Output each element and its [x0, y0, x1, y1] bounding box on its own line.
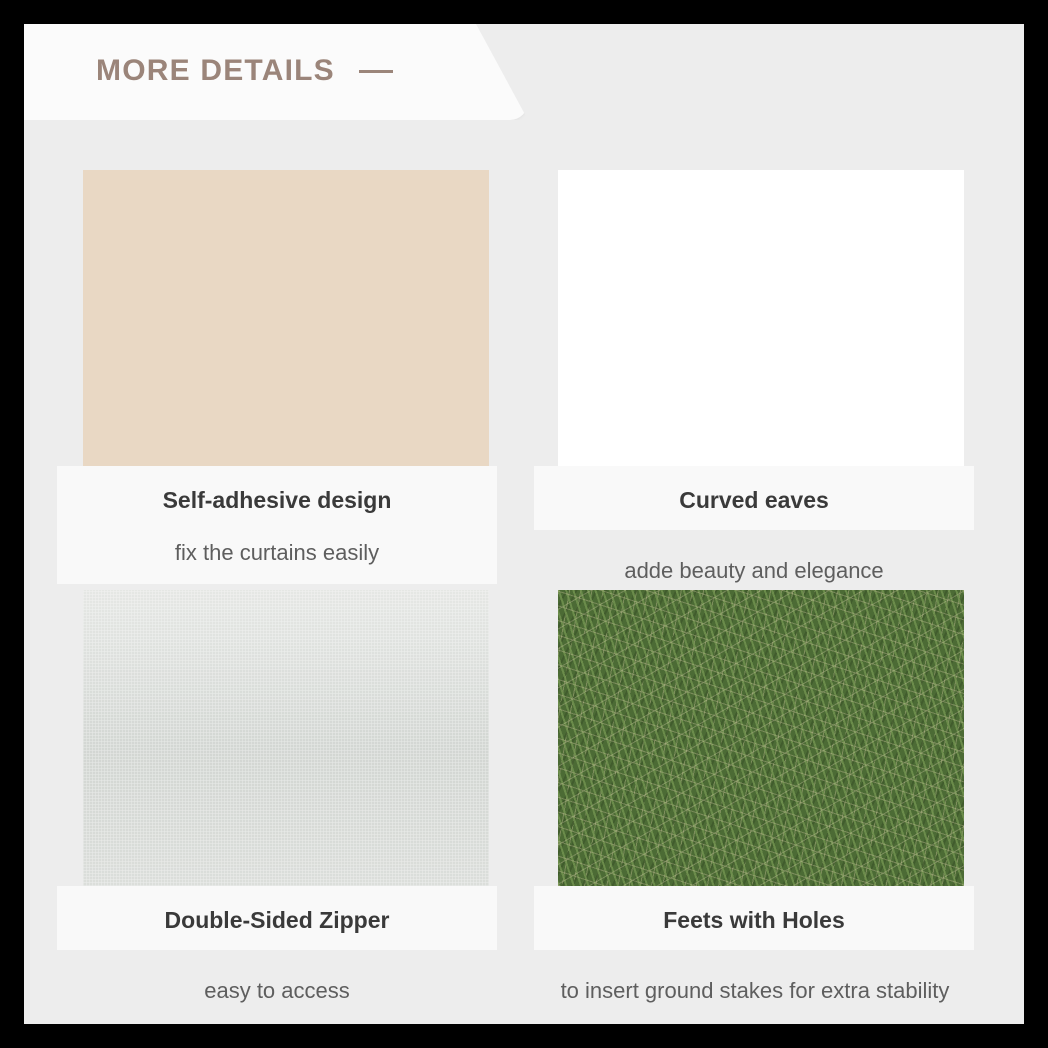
card-title: Curved eaves [534, 486, 974, 516]
gazebo-curtain-tabs-photo [83, 170, 489, 466]
card-description: adde beauty and elegance [524, 556, 984, 586]
card-description: easy to access [47, 976, 507, 1006]
card-title: Feets with Holes [534, 906, 974, 936]
detail-card-double-sided-zipper[interactable]: Double-Sided Zipper easy to access [57, 590, 497, 1006]
caption-plate: Curved eaves [534, 466, 974, 530]
caption-plate: Double-Sided Zipper [57, 886, 497, 950]
card-title: Self-adhesive design [57, 486, 497, 516]
mesh-netting-interior-photo [83, 590, 489, 886]
detail-card-self-adhesive-design[interactable]: Self-adhesive design fix the curtains ea… [57, 170, 497, 584]
detail-card-curved-eaves[interactable]: Curved eaves adde beauty and elegance [534, 170, 974, 586]
page-title: MORE DETAILS [96, 54, 335, 88]
card-title: Double-Sided Zipper [57, 906, 497, 936]
card-description: to insert ground stakes for extra stabil… [520, 976, 990, 1006]
caption-plate: Self-adhesive design fix the curtains ea… [57, 466, 497, 584]
curved-eaves-photo [558, 170, 964, 466]
caption-plate: Feets with Holes [534, 886, 974, 950]
header-content: MORE DETAILS [96, 54, 393, 88]
post-foot-on-grass-photo [558, 590, 964, 886]
detail-card-feets-with-holes[interactable]: Feets with Holes to insert ground stakes… [534, 590, 974, 1006]
details-grid: Self-adhesive design fix the curtains ea… [24, 120, 1024, 1024]
header-dash-icon [359, 70, 393, 73]
product-detail-panel: MORE DETAILS [24, 24, 1024, 1024]
card-description: fix the curtains easily [57, 538, 497, 568]
